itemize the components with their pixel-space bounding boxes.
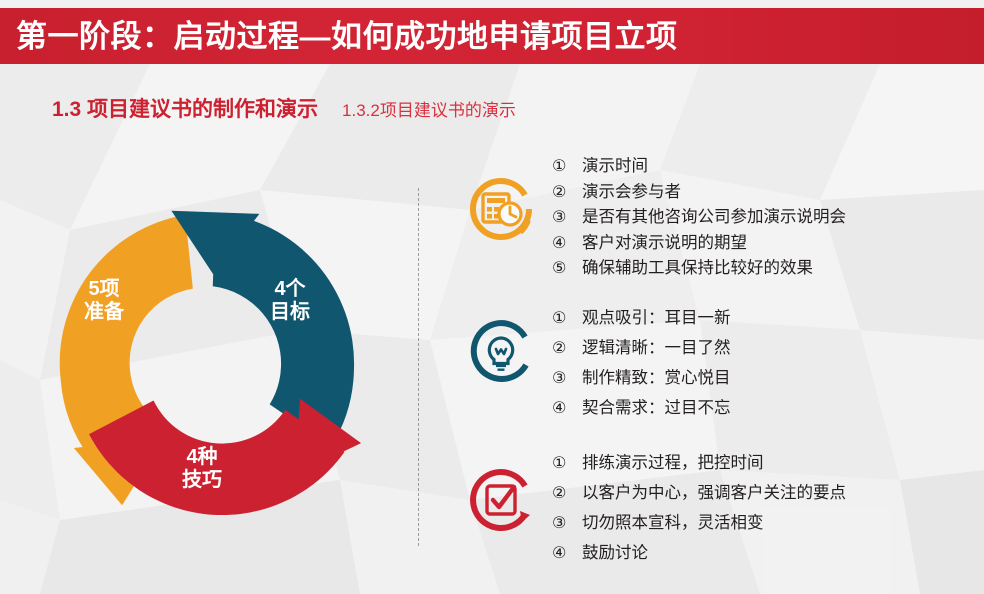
list-item: ① 排练演示过程，把控时间 [552,455,846,472]
slide-canvas: 第一阶段：启动过程—如何成功地申请项目立项 1.3 项目建议书的制作和演示 1.… [0,0,984,594]
content-block-goals: ① 观点吸引：耳目一新 ② 逻辑清晰：一目了然 ③ 制作精致：赏心悦目 ④ 契合… [468,310,731,430]
list-text: 观点吸引：耳目一新 [582,310,731,327]
item-list-goals: ① 观点吸引：耳目一新 ② 逻辑清晰：一目了然 ③ 制作精致：赏心悦目 ④ 契合… [552,310,731,430]
cycle-label-goals-line2: 目标 [250,301,330,324]
list-marker: ① [552,159,582,175]
content-block-preparation: ① 演示时间 ② 演示会参与者 ③ 是否有其他咨询公司参加演示说明会 ④ 客户对… [468,158,846,286]
list-item: ② 逻辑清晰：一目了然 [552,340,731,357]
cycle-label-skills: 4种 技巧 [157,446,247,492]
list-marker: ① [552,456,582,472]
checkbox-check-icon [468,467,534,533]
list-text: 确保辅助工具保持比较好的效果 [582,260,813,277]
list-item: ③ 切勿照本宣科，灵活相变 [552,515,846,532]
item-list-preparation: ① 演示时间 ② 演示会参与者 ③ 是否有其他咨询公司参加演示说明会 ④ 客户对… [552,158,846,286]
list-text: 契合需求：过目不忘 [582,400,731,417]
list-text: 客户对演示说明的期望 [582,235,747,252]
calendar-clock-icon [468,176,534,242]
list-marker: ③ [552,516,582,532]
title-banner: 第一阶段：启动过程—如何成功地申请项目立项 [0,8,984,64]
page-title: 第一阶段：启动过程—如何成功地申请项目立项 [16,21,678,52]
list-text: 制作精致：赏心悦目 [582,370,731,387]
list-text: 排练演示过程，把控时间 [582,455,764,472]
item-list-skills: ① 排练演示过程，把控时间 ② 以客户为中心，强调客户关注的要点 ③ 切勿照本宣… [552,455,846,575]
list-text: 鼓励讨论 [582,545,648,562]
list-marker: ② [552,185,582,201]
list-item: ⑤ 确保辅助工具保持比较好的效果 [552,260,846,277]
list-item: ④ 契合需求：过目不忘 [552,400,731,417]
vertical-divider [418,188,419,546]
list-item: ③ 是否有其他咨询公司参加演示说明会 [552,209,846,226]
cycle-label-goals-line1: 4个 [250,278,330,301]
subsection-heading: 1.3.2项目建议书的演示 [342,96,516,121]
cycle-label-prepare: 5项 准备 [64,278,144,324]
list-text: 是否有其他咨询公司参加演示说明会 [582,209,846,226]
cycle-label-skills-line2: 技巧 [157,469,247,492]
list-item: ① 演示时间 [552,158,846,175]
list-item: ① 观点吸引：耳目一新 [552,310,731,327]
list-text: 演示时间 [582,158,648,175]
list-item: ③ 制作精致：赏心悦目 [552,370,731,387]
cycle-label-prepare-line2: 准备 [64,301,144,324]
list-marker: ② [552,486,582,502]
list-item: ② 演示会参与者 [552,184,846,201]
cycle-label-goals: 4个 目标 [250,278,330,324]
cycle-diagram: 5项 准备 4个 目标 4种 技巧 [38,196,368,536]
list-marker: ③ [552,210,582,226]
cycle-label-prepare-line1: 5项 [64,278,144,301]
cycle-label-skills-line1: 4种 [157,446,247,469]
list-item: ② 以客户为中心，强调客户关注的要点 [552,485,846,502]
list-marker: ④ [552,401,582,417]
content-block-skills: ① 排练演示过程，把控时间 ② 以客户为中心，强调客户关注的要点 ③ 切勿照本宣… [468,455,846,575]
section-heading: 1.3 项目建议书的制作和演示 [52,93,318,123]
list-marker: ④ [552,236,582,252]
list-marker: ② [552,341,582,357]
subheading-row: 1.3 项目建议书的制作和演示 1.3.2项目建议书的演示 [52,93,516,123]
list-item: ④ 鼓励讨论 [552,545,846,562]
list-marker: ④ [552,546,582,562]
list-text: 逻辑清晰：一目了然 [582,340,731,357]
list-marker: ③ [552,371,582,387]
list-marker: ⑤ [552,261,582,277]
list-item: ④ 客户对演示说明的期望 [552,235,846,252]
lightbulb-icon [468,318,534,384]
list-text: 切勿照本宣科，灵活相变 [582,515,764,532]
list-text: 演示会参与者 [582,184,681,201]
list-marker: ① [552,311,582,327]
list-text: 以客户为中心，强调客户关注的要点 [582,485,846,502]
